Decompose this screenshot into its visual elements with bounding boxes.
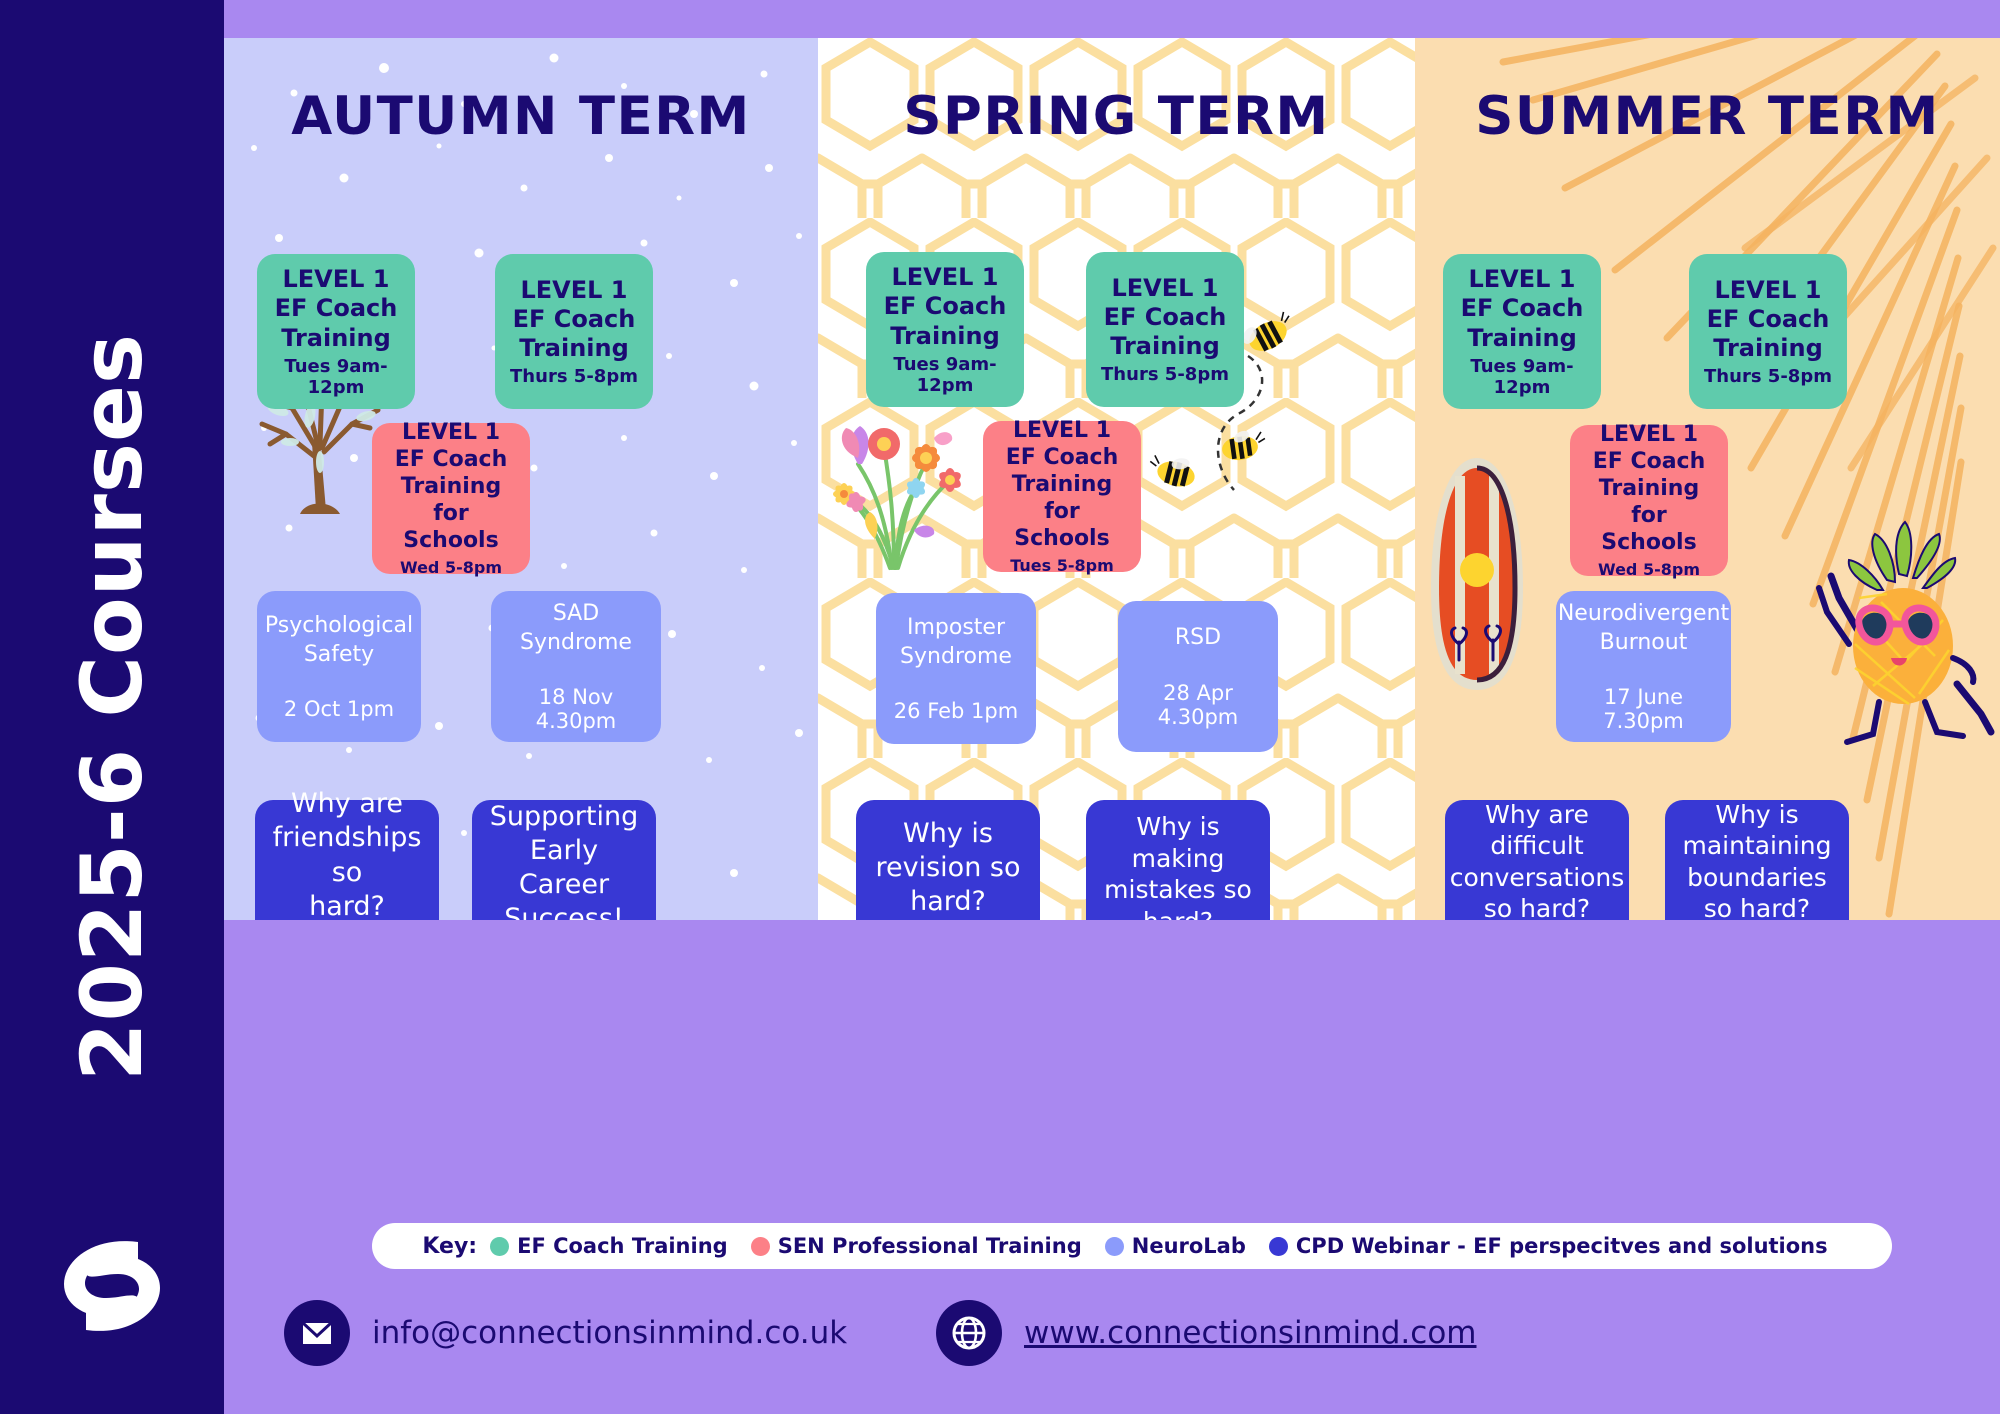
course-card-cpd[interactable]: Why is revision so hard? 2 Dec 4.30pm <box>856 800 1040 920</box>
globe-icon <box>936 1300 1002 1366</box>
key-dot-sen-professional-training <box>751 1237 770 1256</box>
envelope-icon <box>284 1300 350 1366</box>
email-text: info@connectionsinmind.co.uk <box>372 1315 847 1351</box>
course-card-sen[interactable]: LEVEL 1 EF Coach Training for Schools We… <box>372 423 530 574</box>
course-card-neurolab[interactable]: Imposter Syndrome 26 Feb 1pm <box>876 593 1036 744</box>
sidebar: 2025-6 Courses <box>0 0 224 1414</box>
key-item-cpd-webinar: CPD Webinar - EF perspecitves and soluti… <box>1269 1234 1828 1258</box>
course-card-ef[interactable]: LEVEL 1 EF Coach Training Thurs 5-8pm <box>1086 252 1244 407</box>
contact-email[interactable]: info@connectionsinmind.co.uk <box>284 1300 847 1366</box>
contact-website[interactable]: www.connectionsinmind.com <box>936 1300 1476 1366</box>
terms-panel: AUTUMN TERM <box>224 38 2000 920</box>
course-card-cpd[interactable]: Why is making mistakes so hard? 19 Jan 4… <box>1086 800 1270 920</box>
course-card-cpd[interactable]: Why is maintaining boundaries so hard? 1… <box>1665 800 1849 920</box>
key-text: SEN Professional Training <box>778 1234 1082 1258</box>
course-card-neurolab[interactable]: Psychological Safety 2 Oct 1pm <box>257 591 421 742</box>
page-title: 2025-6 Courses <box>63 333 161 1081</box>
course-card-cpd[interactable]: Why are difficult conversations so hard?… <box>1445 800 1629 920</box>
term-heading-spring: SPRING TERM <box>818 38 1415 147</box>
connections-in-mind-logo <box>42 1226 182 1346</box>
key-dot-cpd-webinar <box>1269 1237 1288 1256</box>
key-dot-neurolab <box>1105 1237 1124 1256</box>
term-column-spring: SPRING TERM <box>818 38 1415 920</box>
website-link-text[interactable]: www.connectionsinmind.com <box>1024 1315 1476 1351</box>
legend-key-bar: Key: EF Coach Training SEN Professional … <box>372 1223 1892 1269</box>
term-heading-summer: SUMMER TERM <box>1415 38 2000 147</box>
course-card-neurolab[interactable]: Neurodivergent Burnout 17 June 7.30pm <box>1556 591 1731 742</box>
contact-footer: info@connectionsinmind.co.uk www.connect… <box>224 1290 2000 1390</box>
key-label: Key: <box>422 1234 477 1259</box>
course-card-ef[interactable]: LEVEL 1 EF Coach Training Thurs 5-8pm <box>1689 254 1847 409</box>
course-card-ef[interactable]: LEVEL 1 EF Coach Training Tues 9am-12pm <box>866 252 1024 407</box>
key-text: CPD Webinar - EF perspecitves and soluti… <box>1296 1234 1828 1258</box>
course-card-cpd[interactable]: Supporting Early Career Success! 14 Oct … <box>472 800 656 920</box>
key-text: EF Coach Training <box>517 1234 728 1258</box>
course-card-ef[interactable]: LEVEL 1 EF Coach Training Tues 9am-12pm <box>257 254 415 409</box>
course-card-ef[interactable]: LEVEL 1 EF Coach Training Tues 9am-12pm <box>1443 254 1601 409</box>
course-card-neurolab[interactable]: SAD Syndrome 18 Nov 4.30pm <box>491 591 661 742</box>
key-item-neurolab: NeuroLab <box>1105 1234 1246 1258</box>
term-heading-autumn: AUTUMN TERM <box>224 38 818 147</box>
course-card-ef[interactable]: LEVEL 1 EF Coach Training Thurs 5-8pm <box>495 254 653 409</box>
course-card-sen[interactable]: LEVEL 1 EF Coach Training for Schools Tu… <box>983 421 1141 572</box>
term-column-autumn: AUTUMN TERM <box>224 38 818 920</box>
key-dot-ef-coach-training <box>490 1237 509 1256</box>
course-card-neurolab[interactable]: RSD 28 Apr 4.30pm <box>1118 601 1278 752</box>
key-item-sen-professional-training: SEN Professional Training <box>751 1234 1082 1258</box>
key-item-ef-coach-training: EF Coach Training <box>490 1234 728 1258</box>
course-card-sen[interactable]: LEVEL 1 EF Coach Training for Schools We… <box>1570 425 1728 576</box>
key-text: NeuroLab <box>1132 1234 1246 1258</box>
course-card-cpd[interactable]: Why are friendships so hard? 16 Sep 4.30… <box>255 800 439 920</box>
term-column-summer: SUMMER TERM <box>1415 38 2000 920</box>
